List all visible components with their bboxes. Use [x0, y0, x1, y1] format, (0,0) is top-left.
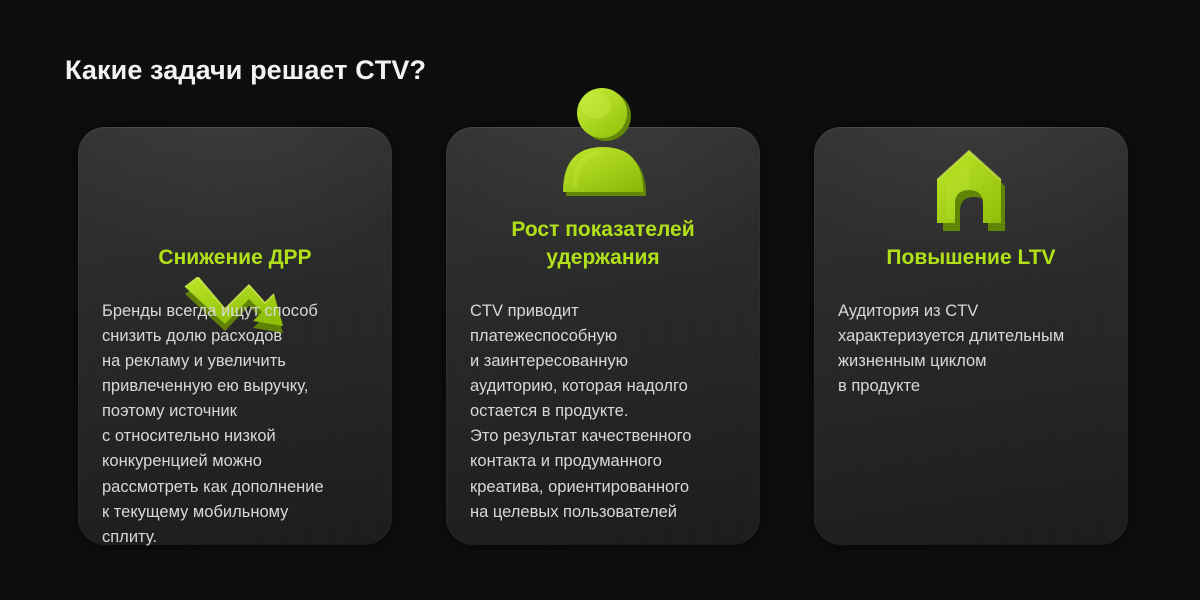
card-povyshenie-ltv[interactable]: Повышение LTV Аудитория из CTV характери…: [814, 127, 1128, 545]
card-title: Повышение LTV: [828, 244, 1114, 272]
person-icon: [446, 85, 760, 203]
house-arch-icon: [814, 147, 1128, 231]
slide-canvas: Какие задачи решает CTV?: [0, 0, 1200, 600]
card-title: Снижение ДРР: [92, 244, 378, 272]
card-body: Аудитория из CTV характеризуется длитель…: [838, 299, 1112, 399]
page-title: Какие задачи решает CTV?: [65, 55, 426, 86]
card-body: CTV приводит платежеспособную и заинтере…: [470, 299, 744, 525]
card-body: Бренды всегда ищут способ снизить долю р…: [102, 299, 376, 550]
card-snizhenie-drr[interactable]: Снижение ДРР Бренды всегда ищут способ с…: [78, 127, 392, 545]
card-rost-pokazateley-uderzhaniya[interactable]: Рост показателей удержания CTV приводит …: [446, 127, 760, 545]
card-title: Рост показателей удержания: [460, 216, 746, 272]
card-grid: Снижение ДРР Бренды всегда ищут способ с…: [78, 127, 1128, 545]
